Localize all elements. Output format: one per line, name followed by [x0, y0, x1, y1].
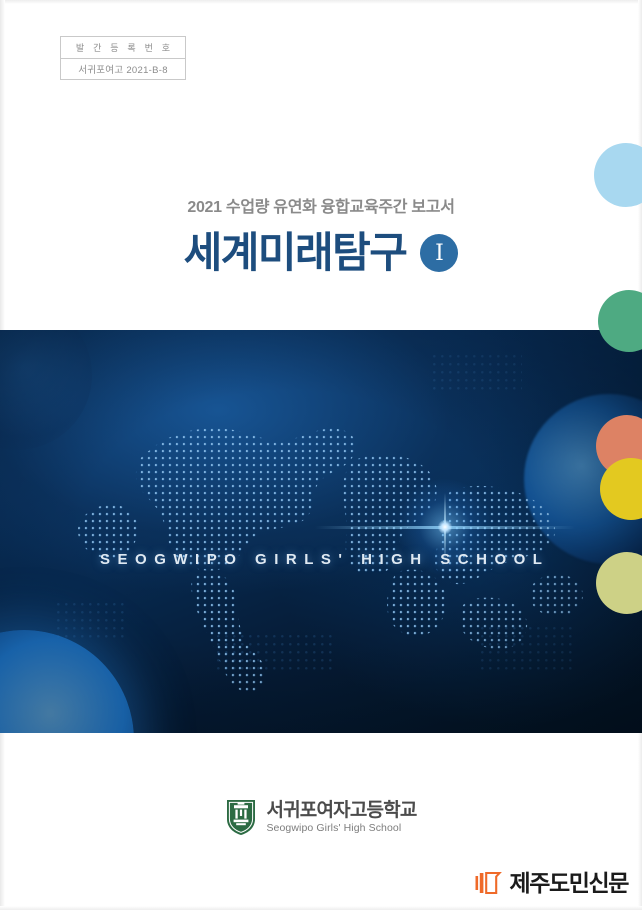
title-block: 2021 수업량 유연화 융합교육주간 보고서 세계미래탐구 Ⅰ — [0, 198, 642, 278]
newspaper-logo-icon — [475, 870, 503, 896]
registration-number-row: 서귀포여고 2021-B-8 — [61, 59, 185, 79]
press-watermark: 제주도민신문 — [475, 870, 628, 896]
publication-registration-box: 발 간 등 록 번 호 서귀포여고 2021-B-8 — [60, 36, 186, 80]
school-name-group: 서귀포여자고등학교 Seogwipo Girls' High School — [266, 800, 416, 835]
main-title-row: 세계미래탐구 Ⅰ — [0, 228, 642, 278]
page-edge-bottom — [0, 906, 642, 910]
registration-label: 발 간 등 록 번 호 — [73, 41, 174, 54]
school-crest-icon — [225, 798, 257, 836]
school-name-english: Seogwipo Girls' High School — [266, 822, 416, 835]
volume-badge: Ⅰ — [420, 234, 458, 272]
page-title: 세계미래탐구 — [184, 228, 407, 278]
registration-number: 서귀포여고 2021-B-8 — [78, 62, 168, 76]
page-edge-top — [0, 0, 642, 4]
registration-label-row: 발 간 등 록 번 호 — [61, 37, 185, 59]
hero-globe-image — [0, 330, 642, 733]
hero-school-lettering: SEOGWIPO GIRLS' HIGH SCHOOL — [0, 551, 642, 568]
footer-school-identity: 서귀포여자고등학교 Seogwipo Girls' High School — [0, 798, 642, 836]
press-name: 제주도민신문 — [509, 870, 628, 896]
report-cover-page: 발 간 등 록 번 호 서귀포여고 2021-B-8 2021 수업량 유연화 … — [0, 0, 642, 910]
school-name-korean: 서귀포여자고등학교 — [266, 800, 416, 822]
report-subtitle: 2021 수업량 유연화 융합교육주간 보고서 — [0, 198, 642, 218]
